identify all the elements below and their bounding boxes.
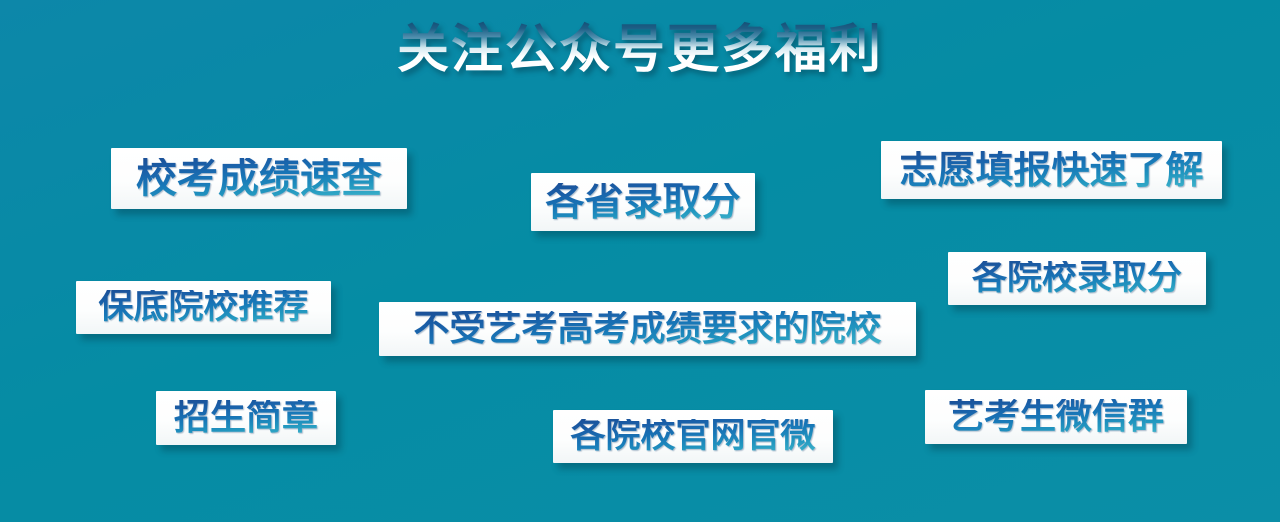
label-chip-text: 校考成绩速查	[136, 158, 382, 199]
label-chip-xiaokao-chengji-sucha[interactable]: 校考成绩速查	[111, 148, 407, 209]
label-chip-text: 不受艺考高考成绩要求的院校	[413, 311, 881, 347]
label-chip-text: 各院校官网官微	[570, 419, 815, 454]
label-chip-gesheng-luqufen[interactable]: 各省录取分	[531, 173, 755, 231]
label-chip-bushou-yikao-gaokao-yaoqiu[interactable]: 不受艺考高考成绩要求的院校	[379, 302, 916, 356]
label-chip-zhaosheng-jianzhang[interactable]: 招生简章	[156, 391, 336, 445]
promo-poster: 关注公众号更多福利 校考成绩速查 各省录取分 志愿填报快速了解 各院校录取分 保…	[0, 0, 1280, 522]
label-chip-text: 招生简章	[174, 400, 318, 436]
label-chip-yikaosheng-weixinqun[interactable]: 艺考生微信群	[925, 390, 1187, 444]
label-chip-zhiyuan-tianbao[interactable]: 志愿填报快速了解	[881, 141, 1222, 199]
label-chip-text: 艺考生微信群	[948, 399, 1164, 435]
label-chip-geyuanxiao-luqufen[interactable]: 各院校录取分	[948, 252, 1206, 305]
label-chip-text: 各省录取分	[545, 183, 740, 222]
label-chip-text: 志愿填报快速了解	[899, 151, 1203, 189]
label-chip-text: 各院校录取分	[972, 261, 1182, 296]
label-chip-geyuanxiao-guanwang-guanwei[interactable]: 各院校官网官微	[553, 410, 833, 463]
label-chip-baodi-yuanxiao-tuijian[interactable]: 保底院校推荐	[76, 281, 331, 334]
page-title: 关注公众号更多福利	[0, 18, 1280, 83]
label-chip-text: 保底院校推荐	[98, 290, 308, 325]
